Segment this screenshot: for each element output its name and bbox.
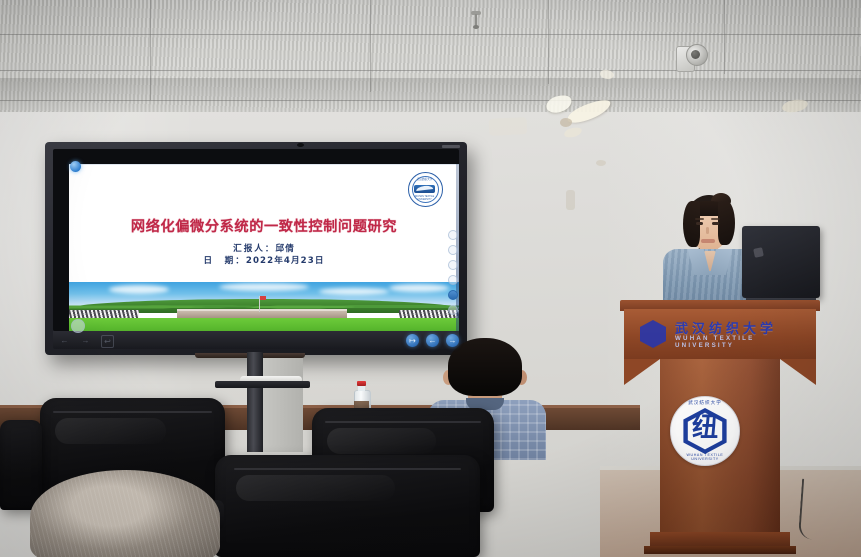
slide-top-rule — [69, 164, 459, 165]
forward-arrow-icon[interactable]: → — [80, 335, 91, 346]
back-arrow-icon[interactable]: ← — [59, 335, 70, 346]
laptop — [742, 226, 820, 306]
next-slide-button[interactable]: → — [446, 334, 459, 347]
attendee-with-gray-hair — [30, 470, 220, 557]
tool-dot[interactable] — [448, 245, 458, 255]
university-emblem: 武汉纺织大学 WUHAN TEXTILE UNIVERSITY — [408, 172, 443, 207]
audience-chair — [215, 455, 480, 557]
wall-mounted-speaker — [676, 42, 706, 72]
tv-stand-shelf — [215, 381, 310, 388]
university-seal: 武汉纺织大学 纽 WUHAN TEXTILE UNIVERSITY — [670, 396, 740, 466]
slide-canvas[interactable]: 武汉纺织大学 WUHAN TEXTILE UNIVERSITY 网络化偏微分系统… — [69, 164, 459, 334]
exit-box-icon[interactable]: ↩ — [101, 335, 114, 348]
fire-sprinkler-icon — [470, 10, 482, 30]
slide-metadata: 汇报人：邱倩 日 期：2022年4月23日 — [69, 244, 459, 267]
date-label: 日 期： — [203, 256, 245, 266]
ceiling-grid-line — [0, 34, 861, 35]
ceiling — [0, 0, 861, 118]
blue-status-dot-icon[interactable] — [70, 161, 81, 172]
campus-sports-field-photo — [69, 282, 459, 334]
bezel-right-controls[interactable]: ↦ ← → — [406, 334, 459, 347]
display-screen[interactable]: 武汉纺织大学 WUHAN TEXTILE UNIVERSITY 网络化偏微分系统… — [53, 149, 459, 331]
tool-dot[interactable] — [448, 260, 458, 270]
bezel-left-controls[interactable]: ← → ↩ — [59, 335, 114, 348]
ceiling-grid-line — [0, 70, 861, 71]
display-brand-mark — [442, 145, 460, 148]
tv-stand-panel — [263, 358, 303, 452]
tool-dot[interactable] — [448, 230, 458, 240]
presenter-label: 汇报人： — [233, 244, 275, 254]
exit-slideshow-button[interactable]: ↦ — [406, 334, 419, 347]
seal-glyph: 纽 — [671, 413, 739, 443]
tool-dot[interactable] — [448, 305, 458, 315]
seal-arc-top-text: 武汉纺织大学 — [677, 400, 733, 406]
wall-mark — [566, 190, 575, 210]
flat-panel-display[interactable]: 武汉纺织大学 WUHAN TEXTILE UNIVERSITY 网络化偏微分系统… — [45, 142, 467, 355]
tool-dot[interactable] — [448, 275, 458, 285]
slide-tool-dots[interactable] — [448, 230, 457, 320]
bottle-cap — [357, 381, 366, 386]
display-camera-icon — [297, 143, 304, 147]
presenter-name: 邱倩 — [276, 244, 295, 254]
wall-patch — [489, 117, 528, 136]
round-handle-icon[interactable] — [71, 319, 85, 333]
ceiling-grid-line — [548, 0, 549, 84]
laptop-logo-icon — [753, 247, 764, 258]
emblem-arc-top-text: 武汉纺织大学 — [415, 177, 434, 182]
tv-stand-column — [247, 352, 263, 452]
slide-title: 网络化偏微分系统的一致性控制问题研究 — [69, 216, 459, 236]
podium-university-name-en: WUHAN TEXTILE UNIVERSITY — [675, 335, 815, 349]
emblem-arc-bottom-text: WUHAN TEXTILE UNIVERSITY — [414, 195, 435, 200]
date-value: 2022年4月23日 — [246, 256, 325, 266]
lectern-podium: 武汉纺织大学 WUHAN TEXTILE UNIVERSITY 武汉纺织大学 纽… — [620, 300, 820, 557]
tool-dot-active[interactable] — [448, 290, 458, 300]
seal-arc-bottom-text: WUHAN TEXTILE UNIVERSITY — [675, 453, 735, 461]
previous-slide-button[interactable]: ← — [426, 334, 439, 347]
seminar-room-photo: 武汉纺织大学 WUHAN TEXTILE UNIVERSITY 网络化偏微分系统… — [0, 0, 861, 557]
presenter-line: 汇报人：邱倩 — [69, 244, 459, 256]
date-line: 日 期：2022年4月23日 — [69, 256, 459, 268]
ceiling-grid-line — [724, 0, 725, 74]
